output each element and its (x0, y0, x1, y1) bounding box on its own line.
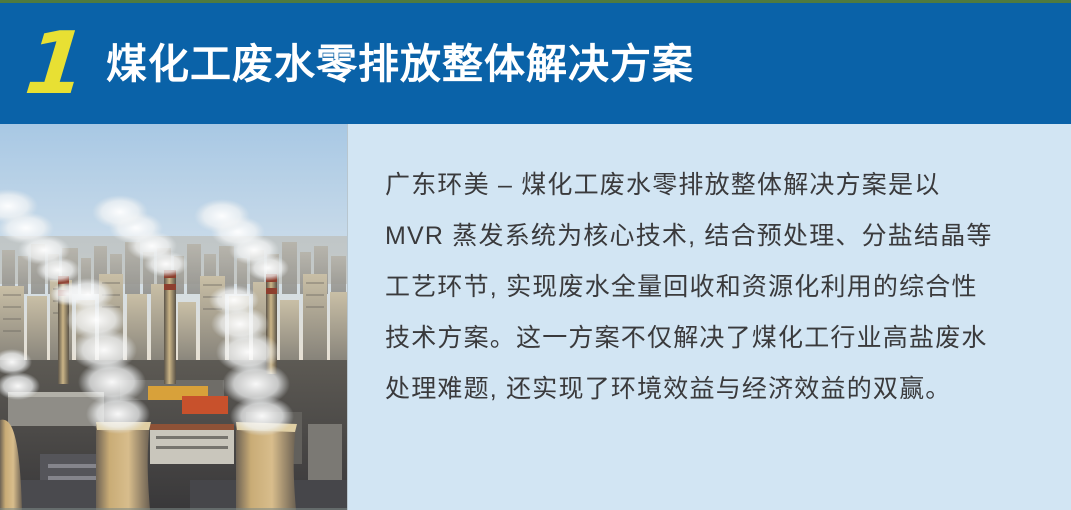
industrial-photo (0, 124, 348, 510)
page-title: 煤化工废水零排放整体解决方案 (106, 40, 694, 88)
description-paragraph: 广东环美 – 煤化工废水零排放整体解决方案是以 MVR 蒸发系统为核心技术, 结… (385, 160, 1005, 415)
paragraph-line: 广东环美 – 煤化工废水零排放整体解决方案是以 (385, 160, 1005, 211)
section-number: 1 (21, 21, 92, 107)
header-band: 1 煤化工废水零排放整体解决方案 (0, 0, 1071, 124)
photo-illustration (0, 124, 348, 510)
paragraph-line: 处理难题, 还实现了环境效益与经济效益的双赢。 (385, 364, 1005, 415)
paragraph-line: MVR 蒸发系统为核心技术, 结合预处理、分盐结晶等 (385, 211, 1005, 262)
slide-page: 1 煤化工废水零排放整体解决方案 (0, 0, 1071, 510)
paragraph-line: 工艺环节, 实现废水全量回收和资源化利用的综合性 (385, 262, 1005, 313)
paragraph-line: 技术方案。这一方案不仅解决了煤化工行业高盐废水 (385, 313, 1005, 364)
